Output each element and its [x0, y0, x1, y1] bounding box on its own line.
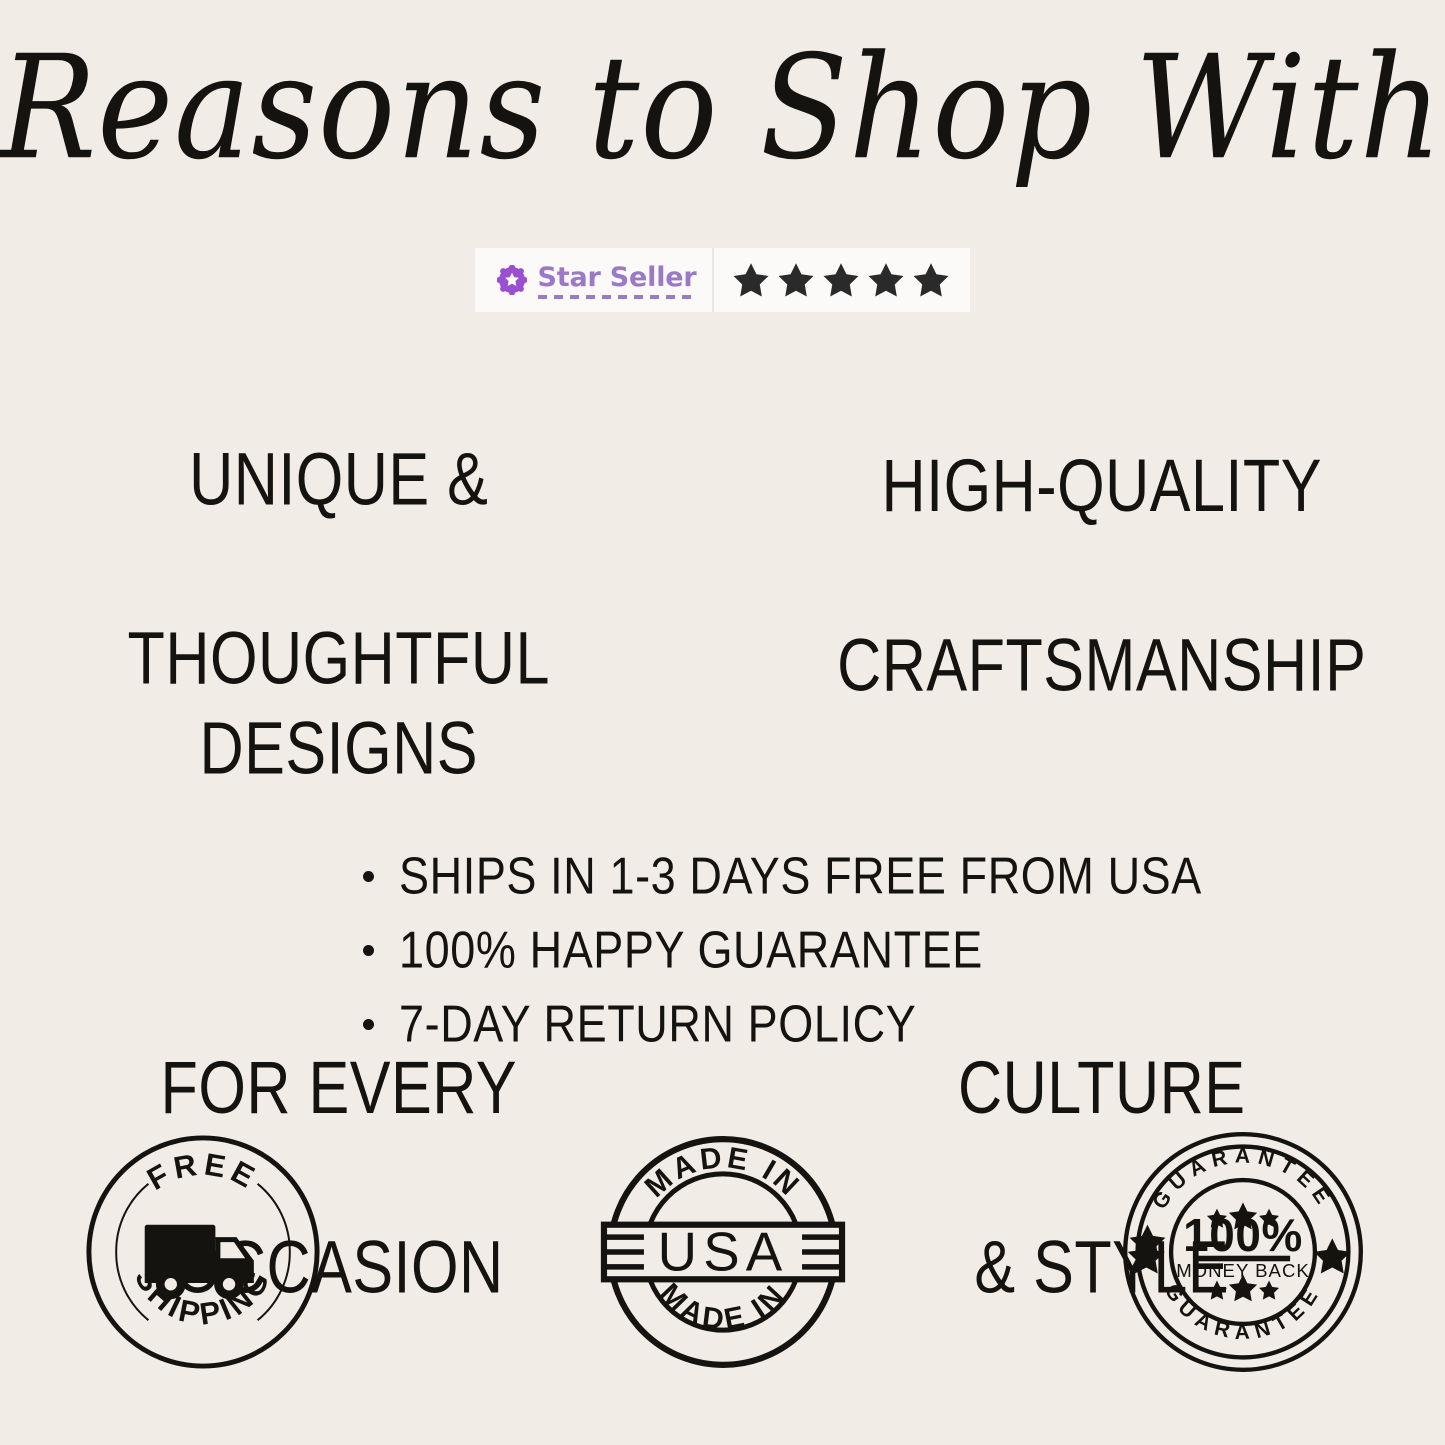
star-rating	[714, 248, 970, 312]
feature-line-2: CRAFTSMANSHIP	[768, 621, 1435, 711]
svg-text:FREE: FREE	[141, 1146, 264, 1197]
badge-free-shipping: FREE SHIPPING	[79, 1128, 327, 1376]
badge-banner-text: USA	[657, 1222, 788, 1283]
badge-top-text: FREE	[141, 1146, 264, 1197]
star-icon	[775, 259, 817, 301]
list-item-label: 7-DAY RETURN POLICY	[399, 996, 916, 1052]
feature-line-2: THOUGHTFUL DESIGNS	[10, 614, 667, 793]
star-seller-text-col: Star Seller	[538, 262, 697, 299]
star-icon	[910, 259, 952, 301]
ribbon-banner-icon: USA	[603, 1222, 841, 1283]
bullet-dot-icon	[363, 945, 374, 956]
svg-text:MADE IN: MADE IN	[652, 1277, 792, 1337]
promo-graphic: Reasons to Shop With Us Star Seller	[0, 0, 1445, 1445]
feature-high-quality: HIGH-QUALITY CRAFTSMANSHIP	[723, 386, 1445, 842]
star-seller-label: Star Seller	[538, 264, 697, 291]
list-item: 7-DAY RETURN POLICY	[363, 1000, 1263, 1048]
delivery-truck-icon	[144, 1225, 253, 1299]
trust-badge-row: FREE SHIPPING	[0, 1128, 1445, 1376]
feature-line-1: UNIQUE &	[10, 435, 667, 525]
badge-center-value: 100%	[1183, 1209, 1303, 1261]
badge-made-in-usa: MADE IN MADE IN USA	[599, 1128, 847, 1376]
badge-top-text: MADE IN	[638, 1141, 807, 1204]
page-title-wrap: Reasons to Shop With Us	[0, 34, 1445, 168]
list-item-label: 100% HAPPY GUARANTEE	[399, 922, 983, 978]
policy-list: SHIPS IN 1-3 DAYS FREE FROM USA 100% HAP…	[363, 852, 1263, 1074]
svg-text:MADE IN: MADE IN	[638, 1141, 807, 1204]
rosette-icon	[497, 265, 527, 295]
feature-row-1: UNIQUE & THOUGHTFUL DESIGNS HIGH-QUALITY…	[0, 386, 1445, 842]
page-title: Reasons to Shop With Us	[0, 34, 1445, 185]
feature-unique-designs: UNIQUE & THOUGHTFUL DESIGNS	[0, 386, 723, 842]
list-item-label: SHIPS IN 1-3 DAYS FREE FROM USA	[399, 848, 1202, 904]
star-icon	[730, 259, 772, 301]
feature-line-1: HIGH-QUALITY	[768, 441, 1435, 531]
dashed-underline	[538, 295, 697, 299]
badge-money-back-guarantee: GUARANTEE GUARANTEE	[1119, 1128, 1367, 1376]
list-item: SHIPS IN 1-3 DAYS FREE FROM USA	[363, 852, 1263, 900]
star-icon	[820, 259, 862, 301]
star-seller-badge: Star Seller	[475, 248, 971, 312]
bullet-dot-icon	[363, 871, 374, 882]
bullet-dot-icon	[363, 1019, 374, 1030]
badge-center-caption: MONEY BACK	[1176, 1260, 1310, 1281]
list-item: 100% HAPPY GUARANTEE	[363, 926, 1263, 974]
star-icon	[865, 259, 907, 301]
star-seller-label-group: Star Seller	[475, 248, 715, 312]
badge-bottom-text: MADE IN	[652, 1277, 792, 1337]
